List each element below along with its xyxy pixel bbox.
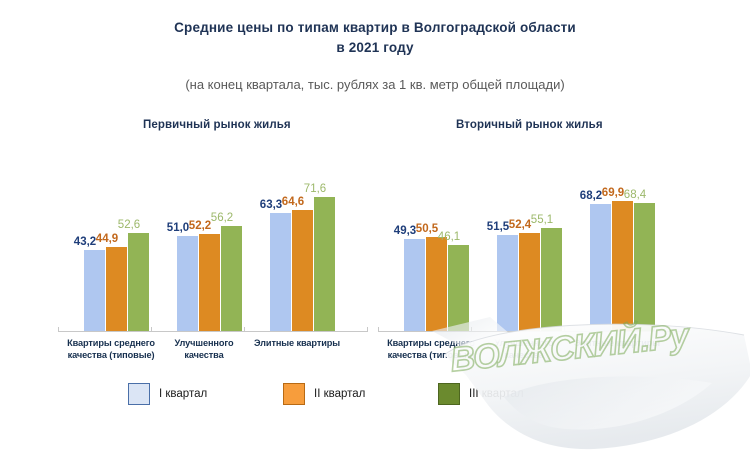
bar[interactable] <box>448 245 469 331</box>
bar-value-label: 44,9 <box>84 233 130 245</box>
legend-label: I квартал <box>159 388 207 400</box>
bar[interactable] <box>612 201 633 331</box>
bar[interactable] <box>541 228 562 331</box>
bar-group: 68,269,968,4 <box>576 150 669 331</box>
axis-end-tick <box>367 327 368 332</box>
bar[interactable] <box>270 213 291 331</box>
bar[interactable] <box>221 226 242 331</box>
category-label: Квартиры среднего качества (типовые) <box>386 338 476 361</box>
chart-title-line-2: в 2021 году <box>0 38 750 58</box>
x-axis-line <box>58 331 368 332</box>
bar[interactable] <box>177 236 198 331</box>
chart-subtitle: (на конец квартала, тыс. рублях за 1 кв.… <box>0 76 750 94</box>
axis-tick <box>244 327 245 332</box>
panel-header-secondary: Вторичный рынок жилья <box>456 119 603 131</box>
bar[interactable] <box>590 204 611 331</box>
x-axis-line <box>378 331 688 332</box>
legend-swatch-icon <box>283 383 305 405</box>
bar[interactable] <box>519 233 540 331</box>
plot-area-primary-market: 43,244,952,6Квартиры среднего качества (… <box>58 150 368 332</box>
category-label: Квартиры среднего качества (типовые) <box>66 338 156 361</box>
bar[interactable] <box>426 237 447 331</box>
category-label: Улучшенного качества <box>159 338 249 361</box>
legend-item[interactable]: II квартал <box>283 383 365 405</box>
legend-swatch-icon <box>438 383 460 405</box>
bar[interactable] <box>106 247 127 331</box>
bar[interactable] <box>128 233 149 331</box>
bar[interactable] <box>84 250 105 331</box>
category-label: Улучшенного качества <box>479 338 569 361</box>
chart-figure: Средние цены по типам квартир в Волгогра… <box>0 0 750 441</box>
axis-tick <box>564 327 565 332</box>
chart-legend: I кварталII кварталIII квартал <box>0 383 750 413</box>
bar[interactable] <box>199 234 220 331</box>
chart-title: Средние цены по типам квартир в Волгогра… <box>0 18 750 58</box>
bar-value-label: 64,6 <box>270 196 316 208</box>
plot-area-secondary-market: 49,350,546,1Квартиры среднего качества (… <box>378 150 688 332</box>
bar-group: 51,052,256,2 <box>163 150 256 331</box>
bar-value-label: 55,1 <box>519 214 565 226</box>
legend-swatch-icon <box>128 383 150 405</box>
bar-group: 51,552,455,1 <box>483 150 576 331</box>
bar-value-label: 56,2 <box>199 212 245 224</box>
bar[interactable] <box>634 203 655 331</box>
legend-label: III квартал <box>469 388 524 400</box>
legend-label: II квартал <box>314 388 365 400</box>
bar-value-label: 68,4 <box>612 189 658 201</box>
bar[interactable] <box>292 210 313 331</box>
axis-tick <box>471 327 472 332</box>
bar[interactable] <box>314 197 335 331</box>
chart-title-line-1: Средние цены по типам квартир в Волгогра… <box>0 18 750 38</box>
bar[interactable] <box>497 235 518 331</box>
category-label: Элитные квартиры <box>252 338 342 350</box>
legend-item[interactable]: III квартал <box>438 383 524 405</box>
category-label: Элитные квартиры <box>572 338 662 350</box>
legend-item[interactable]: I квартал <box>128 383 207 405</box>
axis-end-tick <box>58 327 59 332</box>
bar-value-label: 46,1 <box>426 231 472 243</box>
bar-group: 63,364,671,6 <box>256 150 349 331</box>
axis-end-tick <box>687 327 688 332</box>
bar[interactable] <box>404 239 425 331</box>
axis-tick <box>151 327 152 332</box>
bar-value-label: 71,6 <box>292 183 338 195</box>
bar-group: 49,350,546,1 <box>390 150 483 331</box>
bar-value-label: 52,6 <box>106 219 152 231</box>
bar-group: 43,244,952,6 <box>70 150 163 331</box>
axis-end-tick <box>378 327 379 332</box>
panel-header-primary: Первичный рынок жилья <box>143 119 291 131</box>
